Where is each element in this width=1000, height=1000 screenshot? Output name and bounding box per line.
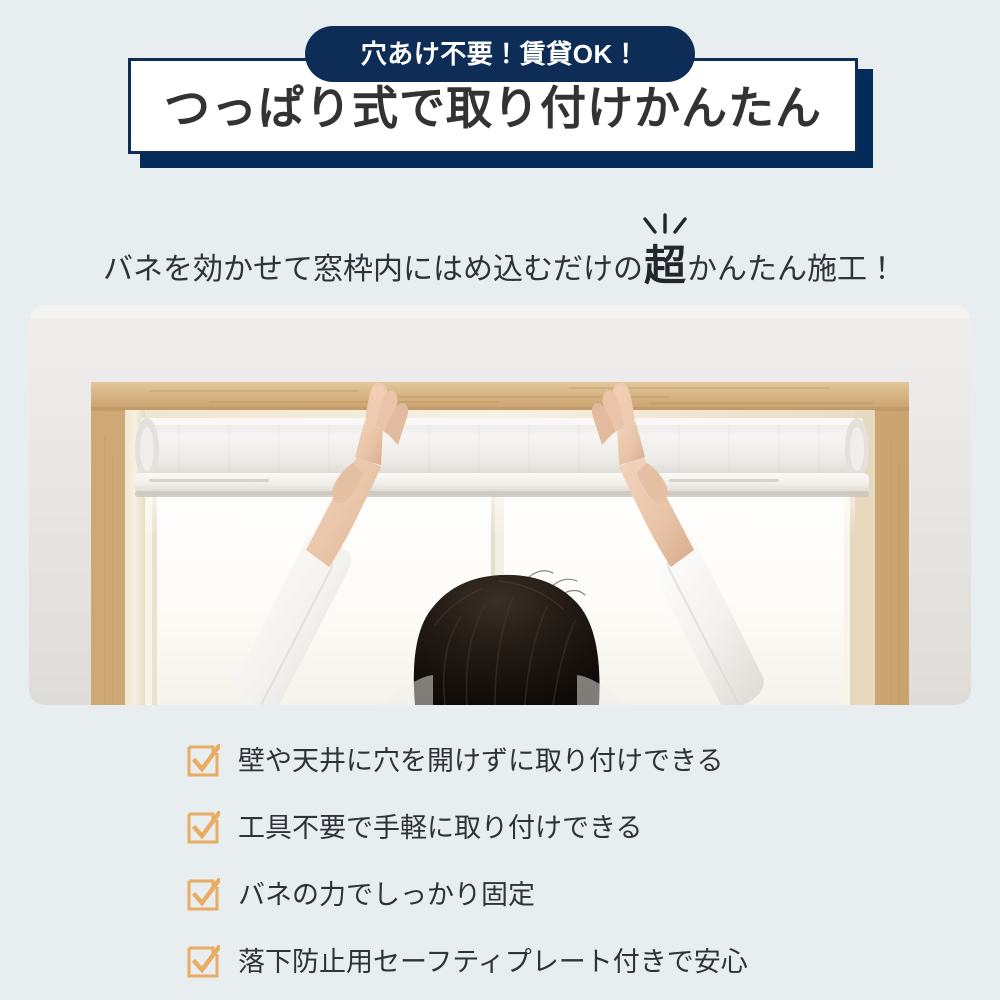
- feature-item: 工具不要で手軽に取り付けできる: [186, 795, 886, 862]
- header-block: つっぱり式で取り付けかんたん 穴あけ不要！賃貸OK！: [0, 0, 1000, 180]
- check-square-icon: [186, 945, 220, 979]
- installation-photo-image: [29, 305, 971, 705]
- subtitle-prefix: バネを効かせて窓枠内にはめ込むだけの: [103, 255, 643, 285]
- installation-photo: [29, 305, 971, 705]
- sparkle-icon: [639, 213, 691, 241]
- feature-label: 落下防止用セーフティプレート付きで安心: [238, 949, 748, 976]
- subtitle-suffix: かんたん施工！: [687, 255, 897, 285]
- check-square-icon: [186, 811, 220, 845]
- check-square-icon: [186, 744, 220, 778]
- feature-item: バネの力でしっかり固定: [186, 862, 886, 929]
- feature-item: 壁や天井に穴を開けずに取り付けできる: [186, 728, 886, 795]
- feature-item: 落下防止用セーフティプレート付きで安心: [186, 929, 886, 996]
- page-title: つっぱり式で取り付けかんたん: [164, 85, 822, 131]
- feature-label: バネの力でしっかり固定: [238, 882, 535, 909]
- subtitle-emphasis-char: 超: [644, 245, 686, 287]
- check-square-icon: [186, 878, 220, 912]
- feature-label: 壁や天井に穴を開けずに取り付けできる: [238, 748, 723, 775]
- subtitle: バネを効かせて窓枠内にはめ込むだけの 超 かんたん施工！: [0, 205, 1000, 285]
- subtitle-emphasis-wrap: 超: [644, 243, 686, 285]
- header-badge-label: 穴あけ不要！賃貸OK！: [361, 41, 640, 67]
- feature-list: 壁や天井に穴を開けずに取り付けできる 工具不要で手軽に取り付けできる バネの力で…: [186, 728, 886, 996]
- feature-label: 工具不要で手軽に取り付けできる: [238, 815, 642, 842]
- header-badge: 穴あけ不要！賃貸OK！: [305, 26, 695, 82]
